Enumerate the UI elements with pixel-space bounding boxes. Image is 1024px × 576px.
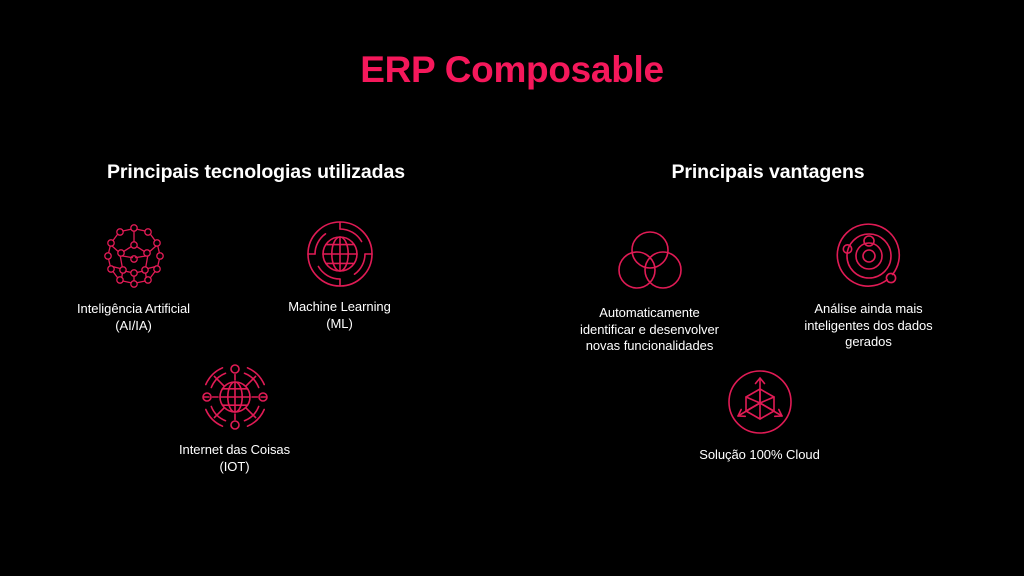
item-label: Solução 100% Cloud <box>652 447 867 464</box>
item-solucao-cloud[interactable]: Solução 100% Cloud <box>652 366 867 464</box>
item-analise-inteligente[interactable]: Análise ainda mais inteligentes dos dado… <box>761 220 976 351</box>
column-heading-tecnologias: Principais tecnologias utilizadas <box>0 150 512 184</box>
venn-diagram-icon <box>614 224 686 296</box>
column-vantagens: Principais vantagens Automaticamen <box>512 150 1024 570</box>
columns-container: Principais tecnologias utilizadas <box>0 150 1024 570</box>
item-grid-tecnologias: Inteligência Artificial (AI/IA) <box>0 198 512 558</box>
item-label: Internet das Coisas (IOT) <box>127 442 342 475</box>
item-label: Machine Learning (ML) <box>232 299 447 332</box>
item-inteligencia-artificial[interactable]: Inteligência Artificial (AI/IA) <box>26 220 241 334</box>
item-grid-vantagens: Automaticamente identificar e desenvolve… <box>512 198 1024 558</box>
item-machine-learning[interactable]: Machine Learning (ML) <box>232 218 447 332</box>
slide-root: ERP Composable Principais tecnologias ut… <box>0 0 1024 576</box>
column-heading-vantagens: Principais vantagens <box>512 150 1024 184</box>
item-automaticamente-identificar[interactable]: Automaticamente identificar e desenvolve… <box>542 224 757 355</box>
globe-target-icon <box>304 218 376 290</box>
orbit-atom-icon <box>833 220 905 292</box>
neural-network-icon <box>98 220 170 292</box>
item-label: Inteligência Artificial (AI/IA) <box>26 301 241 334</box>
iot-globe-network-icon <box>199 361 271 433</box>
item-label: Automaticamente identificar e desenvolve… <box>542 305 757 355</box>
column-tecnologias: Principais tecnologias utilizadas <box>0 150 512 570</box>
item-internet-das-coisas[interactable]: Internet das Coisas (IOT) <box>127 361 342 475</box>
cloud-cube-icon <box>724 366 796 438</box>
item-label: Análise ainda mais inteligentes dos dado… <box>761 301 976 351</box>
page-title: ERP Composable <box>0 50 1024 91</box>
